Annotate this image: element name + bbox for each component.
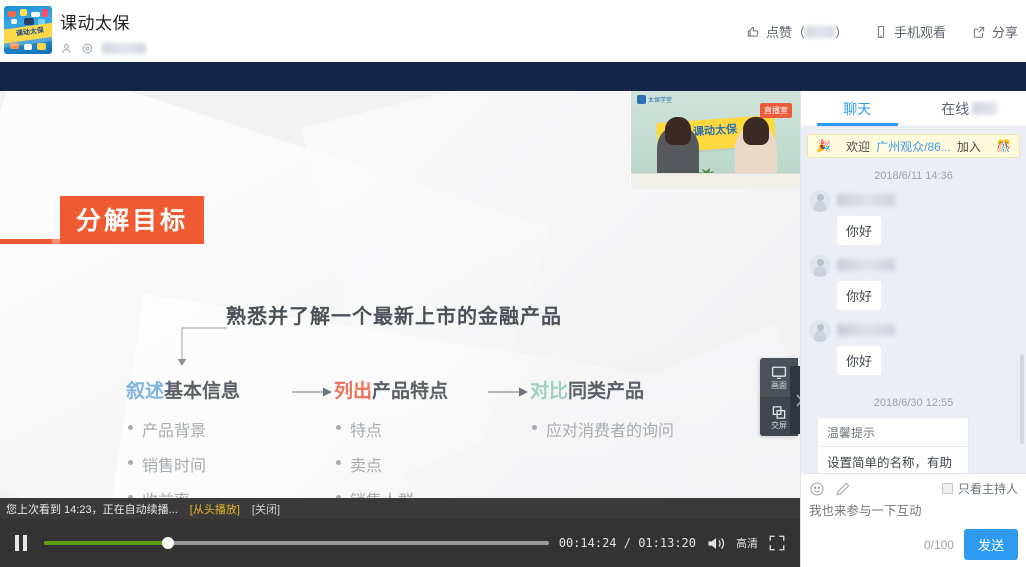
tab-online[interactable]: 在线 <box>914 91 1026 126</box>
confetti-icon: 🎊 <box>996 139 1011 153</box>
pip-desk <box>631 173 800 189</box>
list-item: 卖点 <box>334 452 448 476</box>
message-bubble: 你好 <box>837 216 881 245</box>
tip-card: 温馨提示 设置简单的名称，有助于让小伙伴认识自己 <box>817 417 969 473</box>
thumbs-up-icon <box>746 25 760 39</box>
tip-card-body: 设置简单的名称，有助于让小伙伴认识自己 <box>818 447 968 473</box>
chat-timestamp: 2018/6/11 14:36 <box>809 170 1018 182</box>
course-logo: 课动太保 <box>4 6 52 54</box>
welcome-prefix: 欢迎 <box>846 138 870 155</box>
sender-name-hidden <box>837 324 895 336</box>
tip-card-title: 温馨提示 <box>818 418 968 447</box>
host-only-checkbox[interactable] <box>942 483 953 494</box>
chat-message: 你好 <box>809 255 1018 320</box>
seek-progress-fill <box>44 541 168 545</box>
list-item: 收益率 <box>126 487 240 498</box>
avatar <box>809 190 831 212</box>
presenter-video-pip[interactable]: 太保学堂 课动太保 直播室 <box>630 91 800 189</box>
presenter-left-hair <box>665 117 691 145</box>
welcome-suffix: 加入 <box>957 138 981 155</box>
slide-title-badge: 分解目标 <box>60 196 204 244</box>
pip-live-badge: 直播室 <box>760 103 792 118</box>
online-count-hidden <box>972 102 998 115</box>
monitor-icon <box>771 366 787 380</box>
arrow-right-icon <box>488 386 528 398</box>
message-header <box>809 320 1018 342</box>
chat-composer: 只看主持人 0/100 发送 <box>801 473 1026 567</box>
welcome-banner: 🎉 欢迎 广州观众/86... 加入 🎊 <box>807 134 1020 158</box>
volume-on-icon[interactable] <box>706 535 726 552</box>
pause-icon[interactable] <box>8 530 34 556</box>
chat-tabs: 聊天 在线 <box>801 91 1026 127</box>
welcome-username[interactable]: 广州观众/86... <box>876 138 951 155</box>
slide-stage[interactable]: 分解目标 熟悉并了解一个最新上市的金融产品 叙述基本信息 产品背景 销售时间 收… <box>0 91 800 498</box>
chat-scrollbar-thumb[interactable] <box>1020 354 1024 444</box>
list-item: 销售人群 <box>334 487 448 498</box>
time-display: 00:14:24 / 01:13:20 <box>559 536 696 550</box>
mobile-watch-button[interactable]: 手机观看 <box>874 22 946 41</box>
close-resume-link[interactable]: [关闭] <box>252 501 280 517</box>
tab-chat-label: 聊天 <box>843 99 871 119</box>
slide-column-1: 叙述基本信息 产品背景 销售时间 收益率 ••• ••• <box>126 376 240 498</box>
video-player-controls: 00:14:24 / 01:13:20 高清 <box>0 519 800 567</box>
tab-online-label: 在线 <box>941 99 969 119</box>
header-meta-row <box>60 42 146 55</box>
chat-message-list[interactable]: 2018/6/11 14:36 你好 你好 <box>801 158 1026 473</box>
mobile-watch-label: 手机观看 <box>894 22 946 41</box>
list-item: 产品背景 <box>126 417 240 441</box>
message-bubble: 你好 <box>837 281 881 310</box>
slide-column-1-heading: 叙述基本信息 <box>126 376 240 403</box>
page-header: 课动太保 课动太保 <box>0 0 1026 62</box>
sender-name-hidden <box>837 259 895 271</box>
slide-column-3-heading: 对比同类产品 <box>530 376 674 403</box>
party-popper-icon: 🎉 <box>816 139 831 153</box>
composer-toolbar: 只看主持人 <box>809 480 1018 497</box>
host-only-toggle[interactable]: 只看主持人 <box>942 480 1018 497</box>
person-icon <box>60 42 73 55</box>
like-button[interactable]: 点赞（） <box>746 22 848 41</box>
slide-column-2-heading: 列出产品特点 <box>334 376 448 403</box>
list-item: 特点 <box>334 417 448 441</box>
slide-column-2-list: 特点 卖点 销售人群 销售话术 <box>334 417 448 498</box>
slide-column-1-list: 产品背景 销售时间 收益率 <box>126 417 240 498</box>
dock-button-screen-label: 画面 <box>771 381 787 390</box>
chat-timestamp: 2018/6/30 12:55 <box>809 397 1018 409</box>
header-title-block: 课动太保 <box>60 9 146 55</box>
dock-button-swap-label: 交屏 <box>771 421 787 430</box>
host-only-label: 只看主持人 <box>958 480 1018 497</box>
message-bubble: 你好 <box>837 346 881 375</box>
navy-divider-band <box>0 62 1026 91</box>
avatar <box>809 255 831 277</box>
composer-footer: 0/100 发送 <box>924 529 1018 560</box>
avatar <box>809 320 831 342</box>
list-item: 应对消费者的询问 <box>530 417 674 441</box>
like-label: 点赞（） <box>766 22 848 41</box>
chat-message: 你好 <box>809 320 1018 385</box>
char-counter: 0/100 <box>924 538 954 552</box>
pip-logo: 太保学堂 <box>637 95 672 104</box>
course-logo-art: 课动太保 <box>4 6 52 54</box>
page-title: 课动太保 <box>60 9 146 34</box>
live-class-page: 课动太保 课动太保 <box>0 0 1026 567</box>
chat-message: 你好 <box>809 190 1018 255</box>
chat-input[interactable] <box>809 504 1018 518</box>
seek-thumb[interactable] <box>162 537 174 549</box>
slide-headline: 熟悉并了解一个最新上市的金融产品 <box>226 300 562 329</box>
tab-chat[interactable]: 聊天 <box>801 91 914 126</box>
dock-collapse-toggle[interactable] <box>790 366 800 434</box>
message-header <box>809 255 1018 277</box>
slide-column-2: 列出产品特点 特点 卖点 销售人群 销售话术 ••• ••• <box>334 376 448 498</box>
arrow-down-icon <box>170 325 228 367</box>
share-button[interactable]: 分享 <box>972 22 1026 41</box>
fullscreen-icon[interactable] <box>768 534 786 552</box>
location-icon <box>81 42 94 55</box>
swap-windows-icon <box>771 405 787 420</box>
chat-scrollbar[interactable] <box>1021 204 1025 473</box>
resume-playback-bar: 您上次看到 14:23，正在自动续播... [从头播放] [关闭] <box>0 498 800 519</box>
share-label: 分享 <box>992 22 1018 41</box>
list-item: 销售时间 <box>126 452 240 476</box>
sender-name-hidden <box>837 194 895 206</box>
send-button[interactable]: 发送 <box>964 529 1018 560</box>
header-actions: 点赞（） 手机观看 分享 <box>746 22 1026 41</box>
message-header <box>809 190 1018 212</box>
presenter-right-hair <box>743 117 769 145</box>
slide-column-3: 对比同类产品 应对消费者的询问 <box>530 376 674 452</box>
resume-notice-text: 您上次看到 14:23，正在自动续播... <box>6 501 178 517</box>
location-value-hidden <box>102 43 146 54</box>
mobile-phone-icon <box>874 25 888 39</box>
slide-column-3-list: 应对消费者的询问 <box>530 417 674 441</box>
share-icon <box>972 25 986 39</box>
chat-panel: 聊天 在线 🎉 欢迎 广州观众/86... 加入 🎊 2018/6/11 14:… <box>800 91 1026 567</box>
quality-selector[interactable]: 高清 <box>736 535 758 551</box>
pen-icon[interactable] <box>835 481 851 497</box>
smiley-icon[interactable] <box>809 481 825 497</box>
arrow-right-icon <box>292 386 332 398</box>
seek-bar[interactable] <box>44 541 549 545</box>
restart-playback-link[interactable]: [从头播放] <box>190 501 240 517</box>
